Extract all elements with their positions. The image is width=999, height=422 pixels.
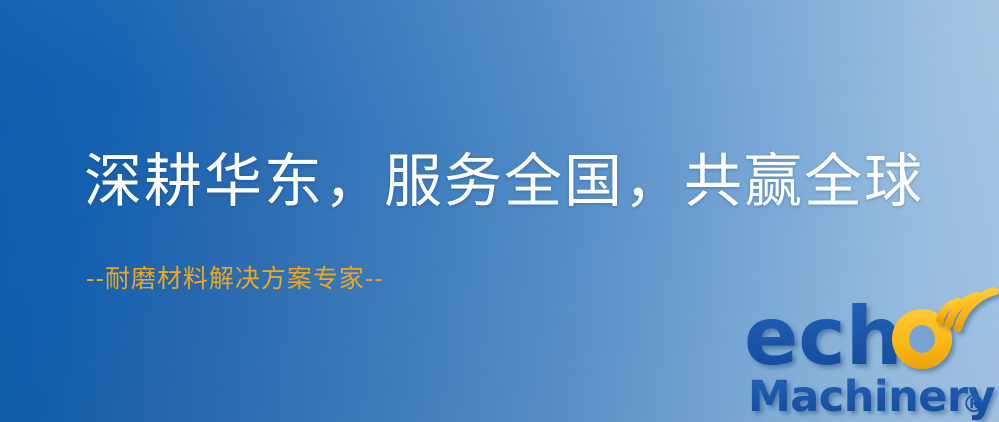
logo-registered-mark: ® [962,390,986,418]
signal-arcs-icon [940,291,995,328]
logo-ech-text: ech [744,290,903,383]
hero-banner: 深耕华东，服务全国，共赢全球 --耐磨材料解决方案专家-- [0,0,999,422]
banner-headline: 深耕华东，服务全国，共赢全球 [84,152,924,210]
logo-machinery-text: Machinery [748,372,996,422]
echo-machinery-logo: ech Machinery ® [744,292,999,422]
logo-echo-blue-text: ech [744,290,903,383]
logo-machinery-text-group: Machinery ® [748,372,996,422]
banner-subheadline: --耐磨材料解决方案专家-- [86,266,384,291]
